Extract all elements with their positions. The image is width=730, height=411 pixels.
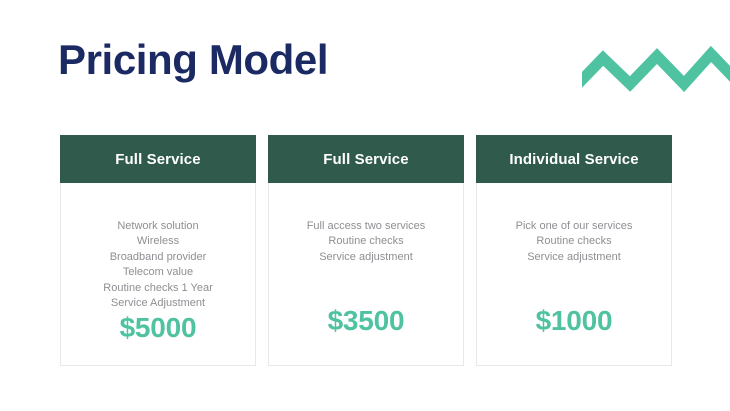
pricing-card[interactable]: Full Service Full access two services Ro…	[268, 135, 464, 366]
pricing-card-price: $3500	[269, 304, 463, 365]
feature-list: Pick one of our services Routine checks …	[516, 219, 633, 265]
pricing-card[interactable]: Individual Service Pick one of our servi…	[476, 135, 672, 366]
pricing-card-header: Full Service	[60, 135, 256, 183]
feature-item: Routine checks 1 Year	[103, 281, 212, 296]
feature-item: Broadband provider	[103, 250, 212, 265]
feature-list: Full access two services Routine checks …	[307, 219, 426, 265]
pricing-card-list: Full Service Network solution Wireless B…	[60, 135, 672, 366]
feature-item: Service Adjustment	[103, 296, 212, 311]
feature-item: Pick one of our services	[516, 219, 633, 234]
feature-item: Wireless	[103, 234, 212, 249]
pricing-slide: Pricing Model Full Service Network solut…	[0, 0, 730, 411]
pricing-card-body: Full access two services Routine checks …	[269, 183, 463, 365]
feature-list: Network solution Wireless Broadband prov…	[103, 219, 212, 311]
pricing-card-header: Full Service	[268, 135, 464, 183]
page-title: Pricing Model	[58, 34, 328, 86]
feature-item: Service adjustment	[516, 250, 633, 265]
feature-item: Service adjustment	[307, 250, 426, 265]
feature-item: Routine checks	[307, 234, 426, 249]
pricing-card-body: Network solution Wireless Broadband prov…	[61, 183, 255, 372]
feature-item: Network solution	[103, 219, 212, 234]
pricing-card[interactable]: Full Service Network solution Wireless B…	[60, 135, 256, 366]
feature-item: Routine checks	[516, 234, 633, 249]
feature-item: Telecom value	[103, 265, 212, 280]
pricing-card-header: Individual Service	[476, 135, 672, 183]
pricing-card-price: $5000	[61, 311, 255, 372]
pricing-card-body: Pick one of our services Routine checks …	[477, 183, 671, 365]
feature-item: Full access two services	[307, 219, 426, 234]
pricing-card-price: $1000	[477, 304, 671, 365]
zigzag-line-icon	[582, 40, 730, 92]
